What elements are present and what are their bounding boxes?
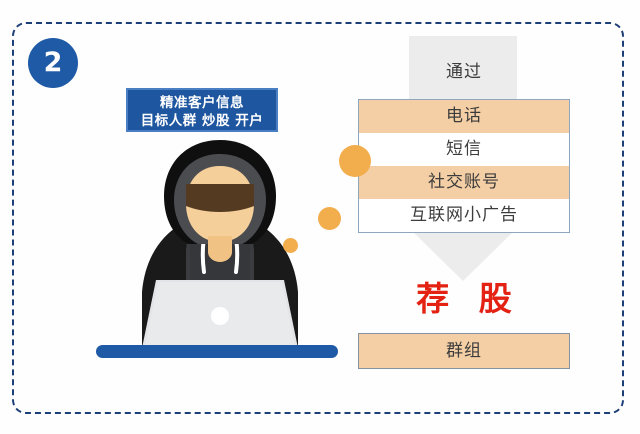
channel-row[interactable]: 社交账号 [359,166,569,199]
channel-list-box: 电话 短信 社交账号 互联网小广告 [358,99,570,233]
target-info-caption-box: 精准客户信息 目标人群 炒股 开户 [126,88,278,132]
group-box[interactable]: 群组 [358,333,570,369]
channel-row[interactable]: 互联网小广告 [359,199,569,232]
infographic-canvas: 2 精准客户信息 目标人群 炒股 开户 通过 电话 短信 社交账号 互联网小广告… [0,0,640,434]
caption-line-2: 目标人群 炒股 开户 [128,112,276,130]
orange-dot-large [339,145,371,177]
step-number-badge: 2 [28,38,78,88]
caption-line-1: 精准客户信息 [128,94,276,112]
through-label: 通过 [358,57,570,82]
orange-dot-small [283,238,298,253]
stock-recommendation-headline: 荐 股 [358,272,570,320]
channel-row[interactable]: 短信 [359,133,569,166]
orange-dot-medium [318,207,341,230]
desk-bar [96,345,338,358]
channel-row[interactable]: 电话 [359,100,569,133]
